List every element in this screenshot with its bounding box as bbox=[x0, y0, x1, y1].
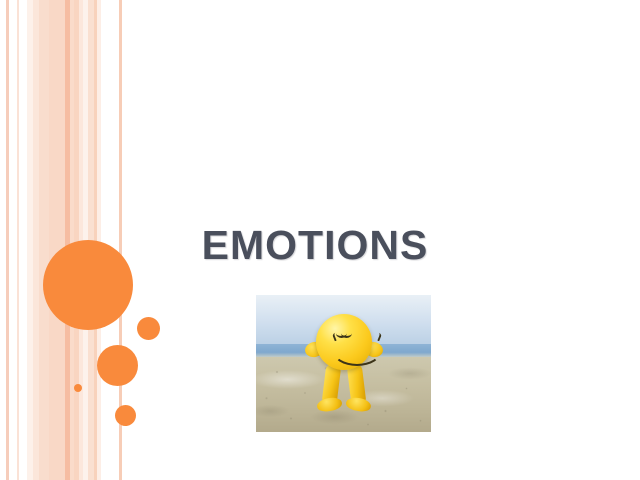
smiley-toy-figure bbox=[305, 314, 383, 418]
small-circle-right bbox=[137, 317, 160, 340]
stripe-3 bbox=[19, 0, 27, 480]
small-circle-bottom bbox=[115, 405, 136, 426]
tiny-dot bbox=[74, 384, 82, 392]
slide-title: Emotions bbox=[150, 206, 480, 274]
large-circle bbox=[43, 240, 133, 330]
stripe-6 bbox=[39, 0, 49, 480]
stripe-1 bbox=[9, 0, 17, 480]
medium-circle bbox=[97, 345, 138, 386]
toy-smile bbox=[332, 334, 382, 366]
toy-head bbox=[316, 314, 372, 370]
presentation-slide: Emotions bbox=[0, 0, 640, 480]
smiley-toy-photo bbox=[256, 295, 431, 432]
toy-foot-right bbox=[345, 396, 372, 413]
stripe-7 bbox=[49, 0, 65, 480]
toy-foot-left bbox=[316, 396, 343, 413]
